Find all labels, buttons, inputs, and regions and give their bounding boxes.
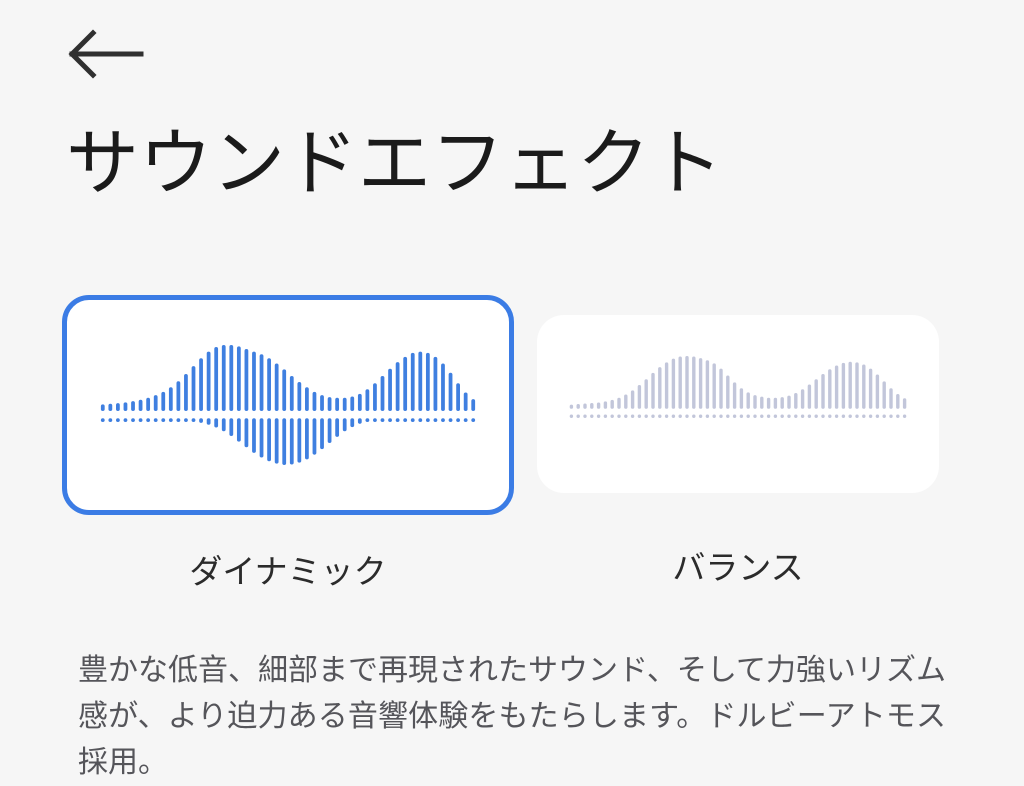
back-button[interactable] (62, 22, 150, 86)
option-balanced[interactable]: バランス (537, 295, 939, 589)
option-balanced-card[interactable] (537, 315, 939, 493)
option-dynamic-card[interactable] (62, 295, 514, 515)
page-title: サウンドエフェクト (66, 122, 723, 206)
option-description: 豊かな低音、細部まで再現されたサウンド、そして力強いリズム感が、より迫力ある音響… (78, 648, 946, 786)
waveform-dynamic-icon (99, 345, 477, 465)
sound-effect-options: ダイナミック バランス (0, 295, 1024, 585)
option-balanced-label: バランス (537, 541, 939, 589)
option-dynamic[interactable]: ダイナミック (62, 295, 514, 593)
option-dynamic-label: ダイナミック (62, 545, 514, 593)
waveform-balanced-icon (568, 356, 908, 452)
arrow-left-icon (67, 29, 145, 79)
